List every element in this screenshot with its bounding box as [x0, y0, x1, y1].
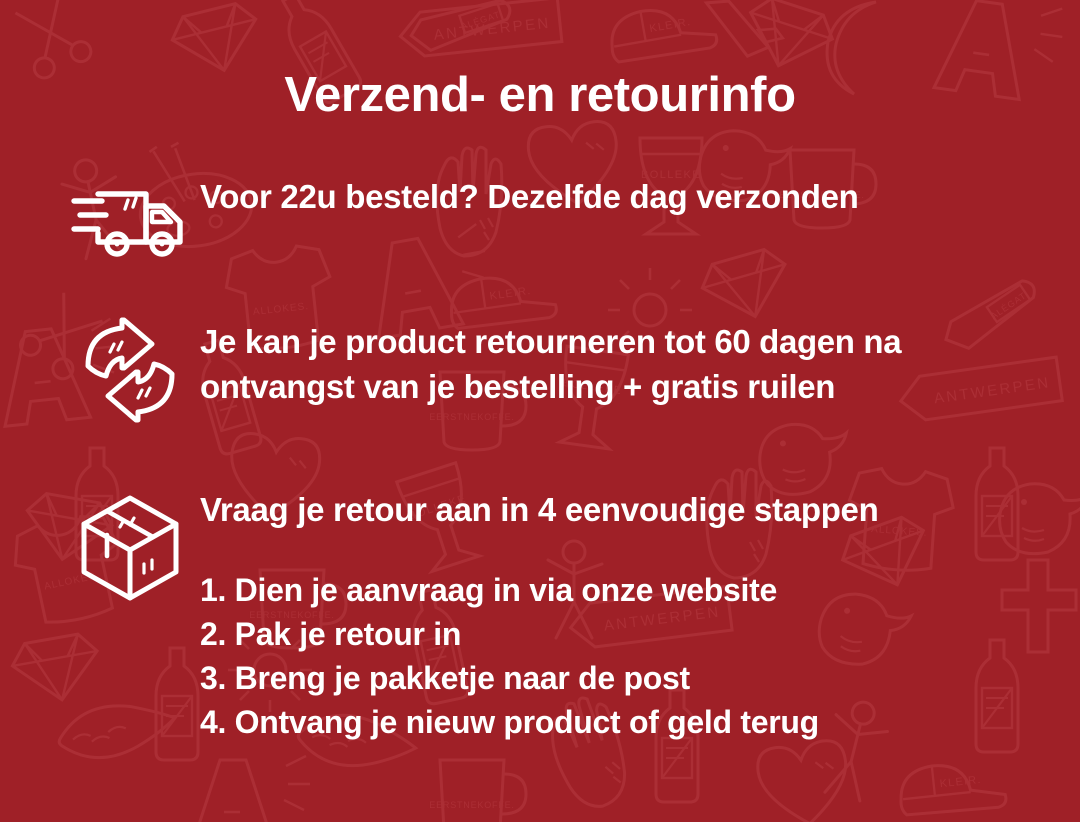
page-title: Verzend- en retourinfo — [0, 70, 1080, 121]
return-steps-heading: Vraag je retour aan in 4 eenvoudige stap… — [200, 490, 878, 530]
return-exchange-arrows-icon-cell — [60, 318, 200, 418]
steps-text-cell: Vraag je retour aan in 4 eenvoudige stap… — [200, 488, 878, 744]
returns-info-text: Je kan je product retourneren tot 60 dag… — [200, 320, 901, 409]
return-steps-row: Vraag je retour aan in 4 eenvoudige stap… — [60, 488, 1060, 744]
list-item: 3. Breng je pakketje naar de post — [200, 656, 878, 700]
shipping-returns-banner: BOLLEKE KLEIR. A — [0, 0, 1080, 822]
returns-info-row: Je kan je product retourneren tot 60 dag… — [60, 318, 1060, 418]
delivery-truck-icon-cell — [60, 176, 200, 260]
delivery-truck-icon — [72, 184, 188, 260]
shipping-info-text: Voor 22u besteld? Dezelfde dag verzonden — [200, 178, 859, 217]
package-box-icon — [78, 494, 182, 602]
return-exchange-arrows-icon — [84, 322, 176, 418]
shipping-text-cell: Voor 22u besteld? Dezelfde dag verzonden — [200, 176, 859, 217]
list-item: 2. Pak je retour in — [200, 612, 878, 656]
package-box-icon-cell — [60, 488, 200, 602]
shipping-info-row: Voor 22u besteld? Dezelfde dag verzonden — [60, 176, 1060, 260]
list-item: 4. Ontvang je nieuw product of geld teru… — [200, 700, 878, 744]
returns-line-2: ontvangst van je bestelling + gratis rui… — [200, 365, 901, 410]
returns-text-cell: Je kan je product retourneren tot 60 dag… — [200, 318, 901, 409]
list-item: 1. Dien je aanvraag in via onze website — [200, 568, 878, 612]
returns-line-1: Je kan je product retourneren tot 60 dag… — [200, 320, 901, 365]
banner-content: Verzend- en retourinfo — [0, 0, 1080, 822]
return-steps-list: 1. Dien je aanvraag in via onze website … — [200, 568, 878, 744]
